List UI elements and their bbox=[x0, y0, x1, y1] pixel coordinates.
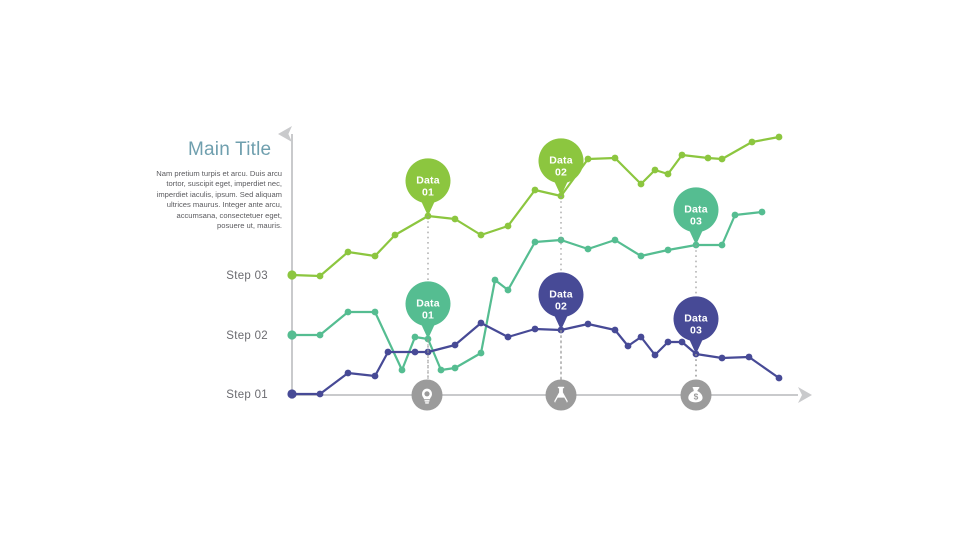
data-point bbox=[317, 391, 324, 398]
data-point bbox=[585, 321, 592, 328]
data-point bbox=[638, 253, 645, 260]
data-point bbox=[478, 320, 485, 327]
data-point bbox=[345, 370, 352, 377]
data-point bbox=[719, 355, 726, 362]
data-point bbox=[638, 334, 645, 341]
data-point bbox=[372, 253, 379, 260]
milestone-money-bag[interactable]: $ bbox=[681, 380, 712, 411]
step-label-step-02: Step 02 bbox=[226, 330, 268, 342]
data-point bbox=[478, 350, 485, 357]
data-point bbox=[719, 156, 726, 163]
data-point bbox=[612, 237, 619, 244]
data-point bbox=[625, 343, 632, 350]
data-point bbox=[665, 171, 672, 178]
milestone-flask[interactable] bbox=[546, 380, 577, 411]
data-point bbox=[776, 134, 783, 141]
series-lines-group bbox=[287, 134, 782, 399]
data-point bbox=[532, 187, 539, 194]
data-point bbox=[679, 152, 686, 159]
data-bubble-green-data-02[interactable]: Data02 bbox=[539, 138, 584, 196]
bubble-label-line2: 01 bbox=[422, 187, 434, 199]
bubble-label-line1: Data bbox=[684, 204, 708, 216]
bubble-label-line2: 03 bbox=[690, 325, 702, 337]
data-bubble-green-data-01[interactable]: Data01 bbox=[406, 158, 451, 216]
infographic-chart-canvas: Main Title Nam pretium turpis et arcu. D… bbox=[0, 0, 960, 540]
data-point bbox=[759, 209, 766, 216]
bubble-label-line2: 01 bbox=[422, 310, 434, 322]
data-point bbox=[438, 367, 445, 374]
bubble-label-line1: Data bbox=[416, 175, 440, 187]
data-point bbox=[505, 223, 512, 230]
data-point bbox=[392, 232, 399, 239]
data-point bbox=[452, 216, 459, 223]
data-point bbox=[287, 270, 296, 279]
bubble-label-line1: Data bbox=[684, 313, 708, 325]
data-point bbox=[705, 155, 712, 162]
data-point bbox=[719, 242, 726, 249]
data-point bbox=[287, 330, 296, 339]
data-point bbox=[532, 239, 539, 246]
svg-text:$: $ bbox=[694, 391, 699, 401]
data-point bbox=[652, 352, 659, 359]
step-label-step-01: Step 01 bbox=[226, 389, 268, 401]
series-line-teal bbox=[292, 212, 762, 370]
data-point bbox=[612, 155, 619, 162]
data-point bbox=[317, 273, 324, 280]
data-point bbox=[452, 342, 459, 349]
data-point bbox=[317, 332, 324, 339]
bubble-label-line1: Data bbox=[549, 155, 573, 167]
data-point bbox=[652, 167, 659, 174]
bubble-label-line1: Data bbox=[416, 298, 440, 310]
line-chart-svg: Step 03Step 02Step 01 $ Data01Data02Data… bbox=[0, 0, 960, 540]
data-bubble-indigo-data-03[interactable]: Data03 bbox=[674, 296, 719, 354]
data-point bbox=[372, 309, 379, 316]
data-point bbox=[478, 232, 485, 239]
data-point bbox=[585, 156, 592, 163]
bubble-label-line2: 03 bbox=[690, 216, 702, 228]
data-point bbox=[399, 367, 406, 374]
data-point bbox=[665, 247, 672, 254]
data-point bbox=[732, 212, 739, 219]
data-point bbox=[638, 181, 645, 188]
data-point bbox=[776, 375, 783, 382]
data-bubble-teal-data-03[interactable]: Data03 bbox=[674, 187, 719, 245]
bubble-label-line2: 02 bbox=[555, 301, 567, 313]
data-point bbox=[492, 277, 499, 284]
data-point bbox=[385, 349, 392, 356]
data-bubble-indigo-data-02[interactable]: Data02 bbox=[539, 272, 584, 330]
data-point bbox=[532, 326, 539, 333]
milestone-lightbulb[interactable] bbox=[412, 380, 443, 411]
data-point bbox=[372, 373, 379, 380]
data-point bbox=[287, 389, 296, 398]
data-point bbox=[749, 139, 756, 146]
data-point bbox=[679, 339, 686, 346]
data-point bbox=[585, 246, 592, 253]
data-point bbox=[612, 327, 619, 334]
data-point bbox=[746, 354, 753, 361]
data-point bbox=[412, 334, 419, 341]
data-point bbox=[412, 349, 419, 356]
data-bubble-teal-data-01[interactable]: Data01 bbox=[406, 281, 451, 339]
data-point bbox=[505, 334, 512, 341]
data-point bbox=[345, 309, 352, 316]
step-label-step-03: Step 03 bbox=[226, 270, 268, 282]
data-point bbox=[345, 249, 352, 256]
data-point bbox=[505, 287, 512, 294]
data-point bbox=[452, 365, 459, 372]
bubble-label-line2: 02 bbox=[555, 167, 567, 179]
data-point bbox=[665, 339, 672, 346]
y-axis-step-labels: Step 03Step 02Step 01 bbox=[226, 270, 268, 401]
bubble-label-line1: Data bbox=[549, 289, 573, 301]
